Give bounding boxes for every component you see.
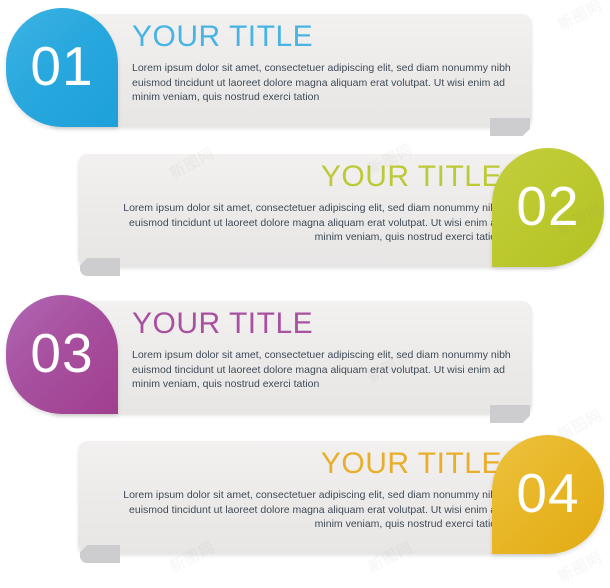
step-body-1: Lorem ipsum dolor sit amet, consectetuer… <box>132 61 522 105</box>
step-badge-1[interactable]: 01 <box>6 8 118 127</box>
step-content-1: YOUR TITLE Lorem ipsum dolor sit amet, c… <box>132 22 522 105</box>
step-content-4: YOUR TITLE Lorem ipsum dolor sit amet, c… <box>112 449 502 532</box>
step-title-1: YOUR TITLE <box>132 22 522 52</box>
step-body-4: Lorem ipsum dolor sit amet, consectetuer… <box>112 488 502 532</box>
step-number-1: 01 <box>30 39 93 94</box>
step-badge-2[interactable]: 02 <box>492 148 604 267</box>
step-row-3: YOUR TITLE Lorem ipsum dolor sit amet, c… <box>0 287 610 434</box>
step-body-2: Lorem ipsum dolor sit amet, consectetuer… <box>112 201 502 245</box>
step-row-1: YOUR TITLE Lorem ipsum dolor sit amet, c… <box>0 0 610 147</box>
step-content-2: YOUR TITLE Lorem ipsum dolor sit amet, c… <box>112 162 502 245</box>
infographic-canvas: YOUR TITLE Lorem ipsum dolor sit amet, c… <box>0 0 610 588</box>
step-number-3: 03 <box>30 326 93 381</box>
connector-tab-1 <box>490 118 530 136</box>
connector-tab-2 <box>80 258 120 276</box>
step-badge-3[interactable]: 03 <box>6 295 118 414</box>
step-number-2: 02 <box>516 179 579 234</box>
step-title-4: YOUR TITLE <box>112 449 502 479</box>
step-badge-4[interactable]: 04 <box>492 435 604 554</box>
step-title-3: YOUR TITLE <box>132 309 522 339</box>
step-title-2: YOUR TITLE <box>112 162 502 192</box>
step-number-4: 04 <box>516 466 579 521</box>
connector-tab-3 <box>490 405 530 423</box>
step-body-3: Lorem ipsum dolor sit amet, consectetuer… <box>132 348 522 392</box>
step-content-3: YOUR TITLE Lorem ipsum dolor sit amet, c… <box>132 309 522 392</box>
step-row-4: YOUR TITLE Lorem ipsum dolor sit amet, c… <box>0 427 610 574</box>
connector-tab-4 <box>80 545 120 563</box>
step-row-2: YOUR TITLE Lorem ipsum dolor sit amet, c… <box>0 140 610 287</box>
